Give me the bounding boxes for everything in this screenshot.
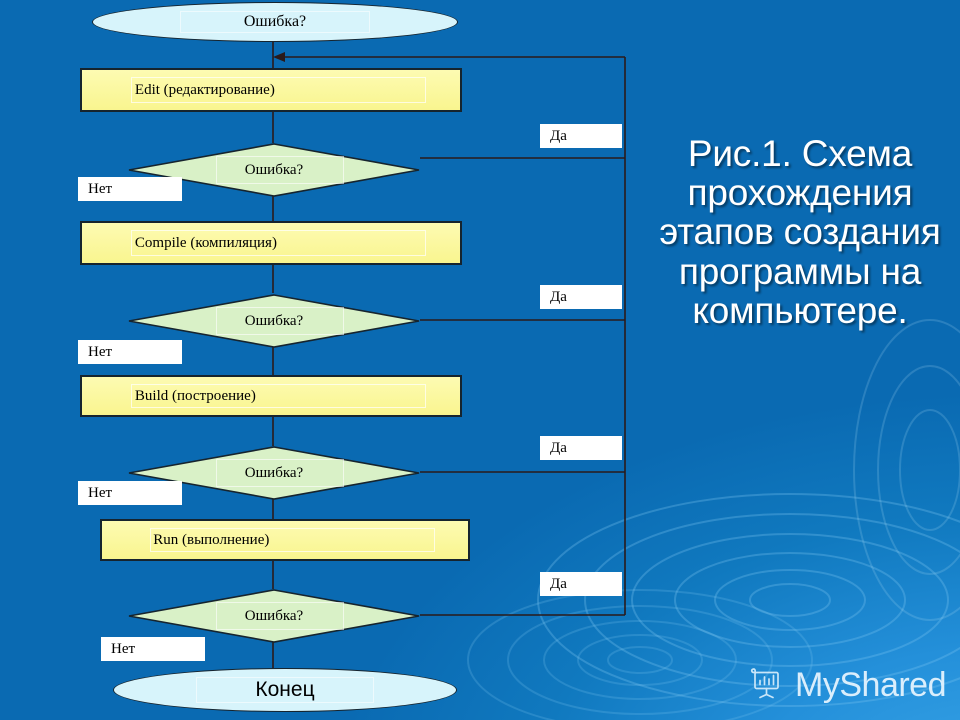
edge-label-yes-2: Да <box>540 285 622 309</box>
flow-node-compile-label: Compile (компиляция) <box>82 235 277 252</box>
myshared-watermark-text: MyShared <box>795 666 946 705</box>
flow-node-build[interactable]: Build (построение) <box>80 375 462 417</box>
flow-node-edit-label: Edit (редактирование) <box>82 82 275 99</box>
figure-caption: Рис.1. Схема прохождения этапов создания… <box>648 134 952 330</box>
edge-label-yes-1: Да <box>540 124 622 148</box>
flow-node-edit[interactable]: Edit (редактирование) <box>80 68 462 112</box>
flow-node-check-4-label: Ошибка? <box>245 608 303 625</box>
flow-node-end-label: Конец <box>255 678 314 702</box>
edge-label-yes-4: Да <box>540 572 622 596</box>
edge-label-no-2: Нет <box>78 340 182 364</box>
presentation-chart-icon <box>746 663 786 708</box>
flow-node-check-3-label: Ошибка? <box>245 465 303 482</box>
edge-label-no-1: Нет <box>78 177 182 201</box>
flow-node-check-2-label: Ошибка? <box>245 313 303 330</box>
myshared-watermark: MyShared <box>746 663 946 708</box>
flow-node-run-label: Run (выполнение) <box>102 532 269 549</box>
edge-label-no-4: Нет <box>101 637 205 661</box>
flow-node-end[interactable]: Конец <box>113 668 457 712</box>
flow-node-check-1-label: Ошибка? <box>245 162 303 179</box>
edge-label-yes-3: Да <box>540 436 622 460</box>
flow-node-run[interactable]: Run (выполнение) <box>100 519 470 561</box>
flow-node-check-4[interactable]: Ошибка? <box>128 589 420 643</box>
slide-canvas: Ошибка? Edit (редактирование) Ошибка? Co… <box>0 0 960 720</box>
edge-label-no-3: Нет <box>78 481 182 505</box>
flow-node-compile[interactable]: Compile (компиляция) <box>80 221 462 265</box>
flow-node-build-label: Build (построение) <box>82 388 256 405</box>
flow-node-start-label: Ошибка? <box>244 13 306 31</box>
flow-node-start[interactable]: Ошибка? <box>92 2 458 42</box>
